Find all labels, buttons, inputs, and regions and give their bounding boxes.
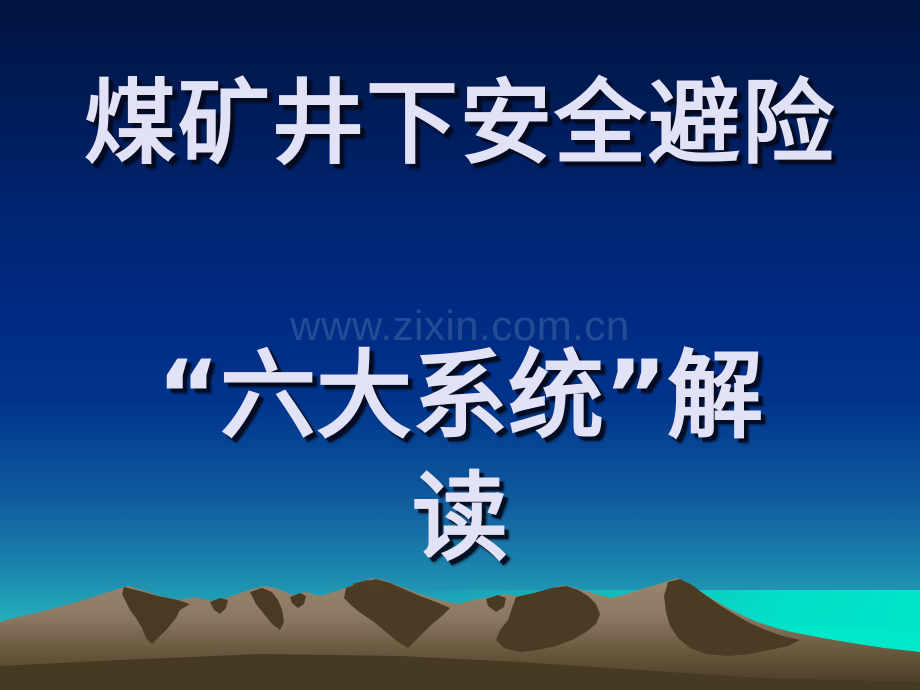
title-slide: www.zixin.com.cn [0,0,920,690]
title-line-3: 读 [0,470,920,566]
title-line-2: “六大系统”解 [0,348,920,444]
mountain-range-silhouette [0,570,920,690]
title-line-1: 煤矿井下安全避险 [0,78,920,170]
